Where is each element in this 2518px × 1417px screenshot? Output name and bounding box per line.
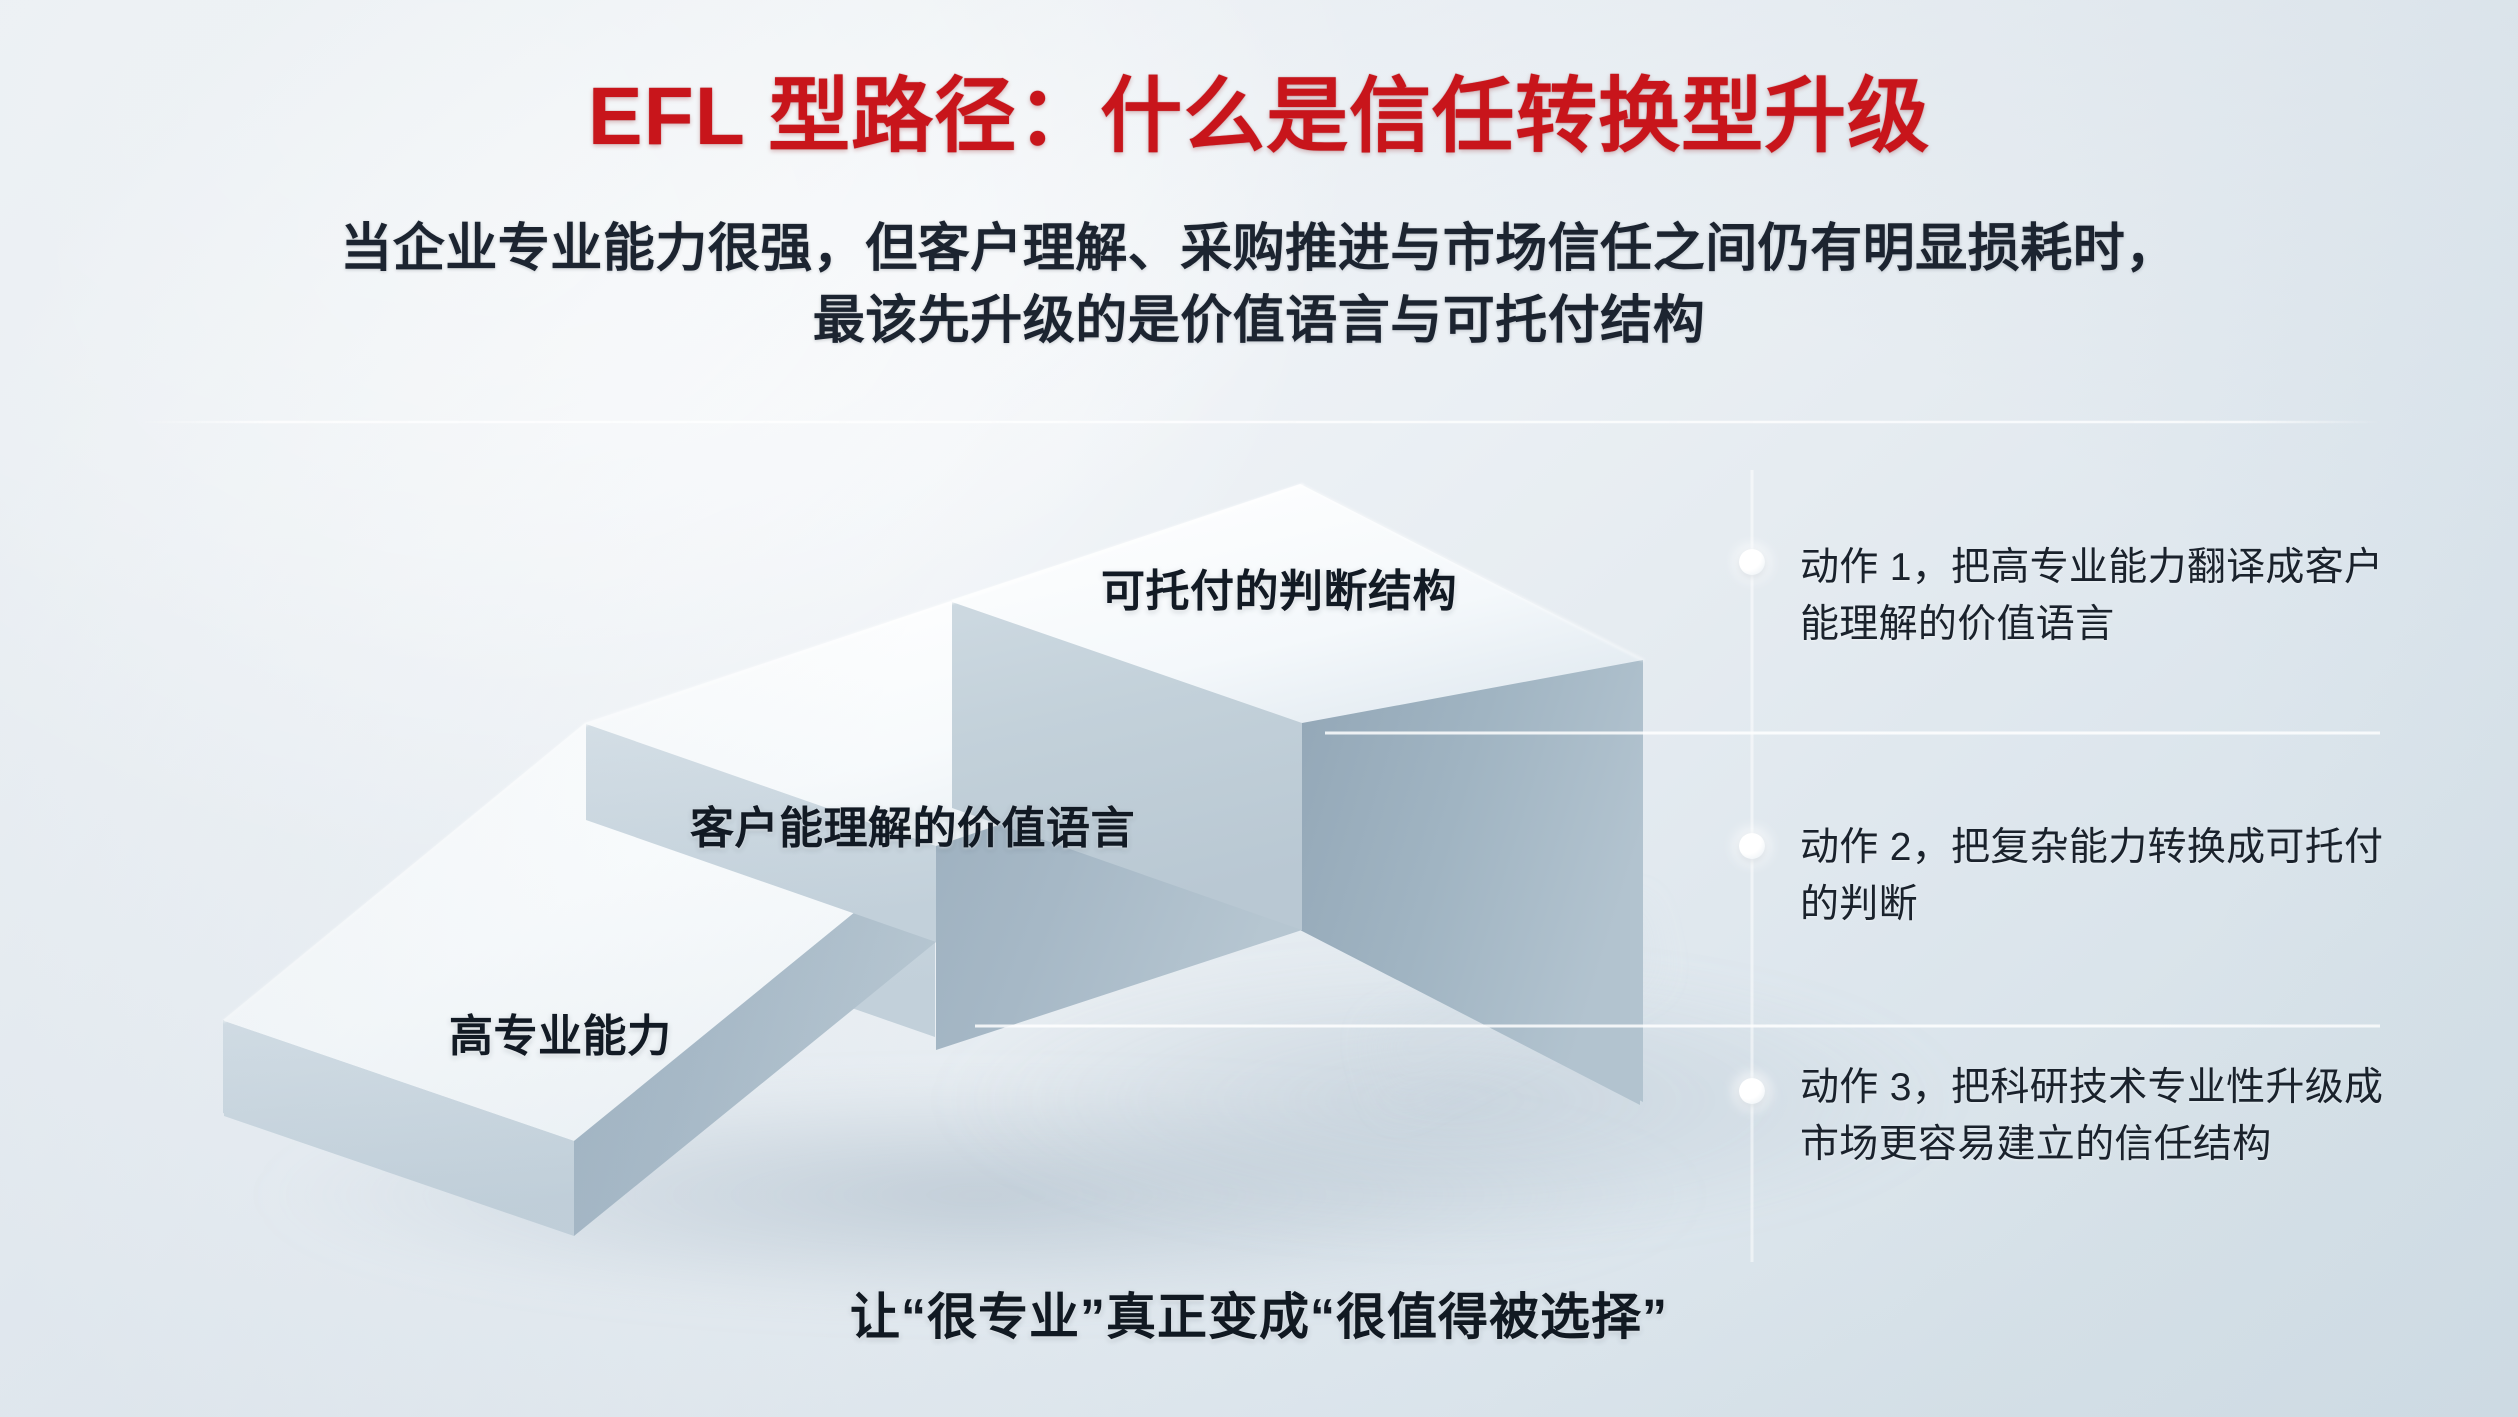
page-subtitle: 当企业专业能力很强，但客户理解、采购推进与市场信任之间仍有明显损耗时， 最该先升… bbox=[0, 214, 2518, 358]
annotation-dot-2 bbox=[1739, 833, 1765, 859]
annotation-text-2: 动作 2，把复杂能力转换成可托付的判断 bbox=[1800, 820, 2420, 934]
annotation-dot-1 bbox=[1739, 549, 1765, 575]
header-divider bbox=[133, 421, 2383, 423]
staircase-illustration bbox=[0, 0, 2518, 1417]
slide-canvas: EFL 型路径：什么是信任转换型升级 当企业专业能力很强，但客户理解、采购推进与… bbox=[0, 0, 2518, 1417]
annotation-text-1: 动作 1，把高专业能力翻译成客户能理解的价值语言 bbox=[1800, 540, 2420, 654]
subtitle-line-1: 当企业专业能力很强，但客户理解、采购推进与市场信任之间仍有明显损耗时， bbox=[340, 220, 2178, 278]
footer-tagline: 让“很专业”真正变成“很值得被选择” bbox=[0, 1277, 2518, 1349]
step-label-2: 客户能理解的价值语言 bbox=[690, 792, 1135, 856]
step-label-3: 可托付的判断结构 bbox=[1101, 555, 1457, 619]
page-title: EFL 型路径：什么是信任转换型升级 bbox=[0, 72, 2518, 162]
step-label-1: 高专业能力 bbox=[449, 1000, 672, 1064]
annotation-text-3: 动作 3，把科研技术专业性升级成市场更容易建立的信任结构 bbox=[1800, 1060, 2420, 1174]
annotation-dot-3 bbox=[1739, 1078, 1765, 1104]
subtitle-line-2: 最该先升级的是价值语言与可托付结构 bbox=[0, 286, 2518, 358]
